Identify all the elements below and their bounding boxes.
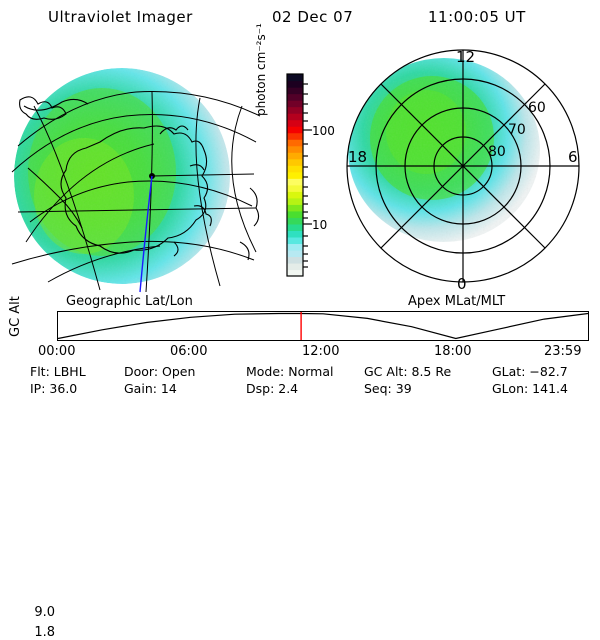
status-row-2: IP: 36.0 Gain: 14 Dsp: 2.4 Seq: 39 GLon:…: [0, 381, 600, 397]
page-title: Ultraviolet Imager: [48, 8, 193, 26]
mlat-label-80: 80: [488, 144, 506, 160]
status-row-1: Flt: LBHL Door: Open Mode: Normal GC Alt…: [0, 364, 600, 380]
observation-time: 11:00:05 UT: [428, 8, 526, 26]
magnetic-aurora-panel: 12 18 6 0 60 70 80: [340, 46, 590, 296]
colorbar-axis-label: photon cm⁻²s⁻¹: [254, 0, 268, 116]
colorbar-tick-100: 100: [312, 124, 335, 138]
mlt-label-12: 12: [456, 48, 475, 66]
mlat-label-70: 70: [508, 122, 526, 138]
mlt-label-6: 6: [568, 148, 578, 166]
mlt-label-18: 18: [348, 148, 367, 166]
gc-alt-tick-high: 9.0: [34, 605, 55, 620]
status-glon: GLon: 141.4: [492, 381, 568, 396]
colorbar-ticks: [303, 84, 312, 267]
magnetic-panel-subtitle: Apex MLat/MLT: [408, 294, 505, 309]
colorbar-tick-10: 10: [312, 218, 327, 232]
colorbar-gradient: [287, 74, 303, 277]
x-tick-0000: 00:00: [38, 344, 75, 359]
status-mode: Mode: Normal: [246, 364, 333, 379]
status-ip: IP: 36.0: [30, 381, 77, 396]
status-seq: Seq: 39: [364, 381, 412, 396]
x-tick-2359: 23:59: [544, 344, 581, 359]
geographic-aurora-panel: [4, 46, 266, 294]
mlt-spokes: [347, 50, 579, 282]
gc-alt-y-ticks: 9.0 1.8: [0, 300, 55, 344]
gc-alt-tick-low: 1.8: [34, 625, 55, 640]
status-door: Door: Open: [124, 364, 195, 379]
mlat-label-60: 60: [528, 100, 546, 116]
mlt-label-0: 0: [457, 275, 467, 293]
status-flt: Flt: LBHL: [30, 364, 86, 379]
status-gain: Gain: 14: [124, 381, 177, 396]
gc-alt-orbit-chart[interactable]: [57, 311, 589, 341]
observation-date: 02 Dec 07: [272, 8, 353, 26]
status-dsp: Dsp: 2.4: [246, 381, 298, 396]
geographic-panel-subtitle: Geographic Lat/Lon: [66, 294, 193, 309]
x-tick-0600: 06:00: [170, 344, 207, 359]
status-glat: GLat: −82.7: [492, 364, 568, 379]
x-tick-1800: 18:00: [434, 344, 471, 359]
colorbar-panel: photon cm⁻²s⁻¹ 100 10: [268, 60, 344, 292]
gc-alt-trace: [58, 314, 588, 339]
x-tick-1200: 12:00: [302, 344, 339, 359]
status-gcalt: GC Alt: 8.5 Re: [364, 364, 451, 379]
